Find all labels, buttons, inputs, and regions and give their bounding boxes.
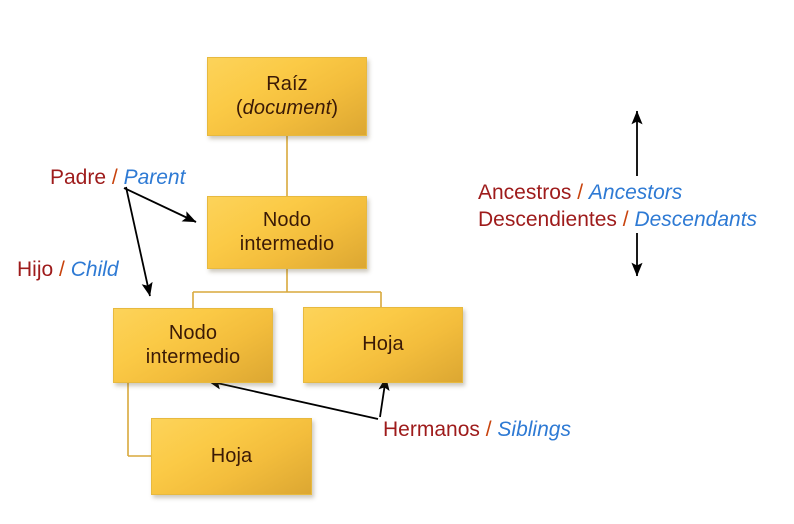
label-parent-es: Padre — [50, 166, 106, 189]
node-leaf-right-label: Hoja — [362, 333, 404, 357]
node-intermediate-bottom-text: Nodo intermedio — [146, 322, 240, 369]
label-descendants-es: Descendientes — [478, 208, 617, 231]
diagram-canvas: Raíz (document) Nodo intermedio Nodo int… — [0, 0, 794, 524]
label-parent-separator: / — [112, 166, 118, 189]
node-root-line2-italic: document — [243, 97, 332, 119]
node-intermediate-bottom[interactable]: Nodo intermedio — [113, 308, 273, 383]
arrow-child-to-node — [126, 187, 150, 296]
arrow-parent-to-node — [124, 188, 196, 222]
node-intermediate-top-line2: intermedio — [240, 233, 334, 257]
label-descendants: Descendientes / Descendants — [478, 208, 757, 232]
node-root[interactable]: Raíz (document) — [207, 57, 367, 136]
label-child-es: Hijo — [17, 258, 53, 281]
label-descendants-separator: / — [623, 208, 629, 231]
node-intermediate-bottom-line1: Nodo — [169, 322, 217, 344]
label-siblings-separator: / — [486, 418, 492, 441]
node-root-text: Raíz (document) — [236, 73, 338, 120]
label-ancestors-separator: / — [577, 181, 583, 204]
label-descendants-en: Descendants — [634, 208, 757, 231]
node-leaf-bottom[interactable]: Hoja — [151, 418, 312, 495]
label-ancestors: Ancestros / Ancestors — [478, 181, 682, 205]
arrow-siblings-to-mid2 — [208, 381, 378, 419]
label-parent: Padre / Parent — [50, 166, 185, 190]
node-intermediate-top-line1: Nodo — [263, 209, 311, 231]
label-siblings-es: Hermanos — [383, 418, 480, 441]
node-root-line1: Raíz — [266, 73, 308, 95]
node-intermediate-top-text: Nodo intermedio — [240, 209, 334, 256]
arrow-siblings-to-leaf1 — [380, 377, 386, 417]
label-siblings: Hermanos / Siblings — [383, 418, 571, 442]
label-child: Hijo / Child — [17, 258, 119, 282]
node-intermediate-bottom-line2: intermedio — [146, 346, 240, 370]
label-parent-en: Parent — [124, 166, 186, 189]
node-leaf-right[interactable]: Hoja — [303, 307, 463, 383]
label-child-separator: / — [59, 258, 65, 281]
label-siblings-en: Siblings — [497, 418, 571, 441]
node-intermediate-top[interactable]: Nodo intermedio — [207, 196, 367, 269]
label-ancestors-en: Ancestors — [589, 181, 682, 204]
label-ancestors-es: Ancestros — [478, 181, 571, 204]
connector-and-arrow-layer — [0, 0, 794, 524]
label-child-en: Child — [71, 258, 119, 281]
node-root-line2: (document) — [236, 97, 338, 121]
node-leaf-bottom-label: Hoja — [211, 445, 253, 469]
